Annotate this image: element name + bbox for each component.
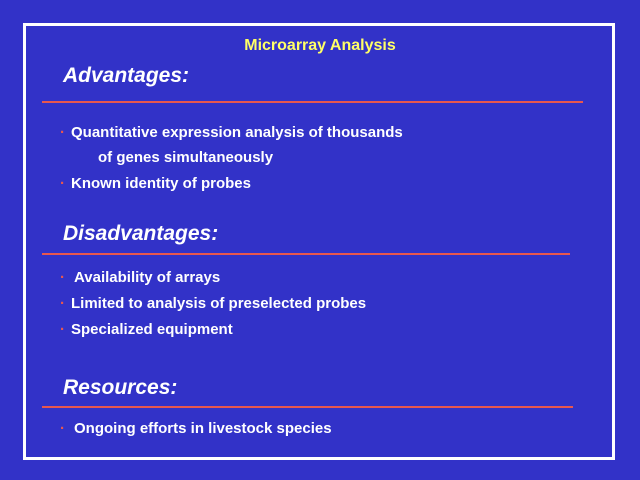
section-heading-resources: Resources: (63, 376, 177, 400)
list-item: ·Ongoing efforts in livestock species (60, 419, 332, 439)
list-item: ·Limited to analysis of preselected prob… (60, 294, 366, 314)
section-heading-advantages: Advantages: (63, 64, 189, 88)
list-item-label: Ongoing efforts in livestock species (74, 420, 332, 437)
section-divider-disadvantages (42, 253, 570, 255)
slide-content: Microarray Analysis Advantages: ·Quantit… (0, 0, 640, 480)
list-item-label: Specialized equipment (71, 321, 233, 338)
list-item-continuation: of genes simultaneously (98, 148, 273, 168)
presentation-slide: Microarray Analysis Advantages: ·Quantit… (0, 0, 640, 480)
bullet-marker-icon: · (60, 294, 71, 314)
section-divider-advantages (42, 101, 583, 103)
section-divider-resources (42, 406, 573, 408)
list-item: ·Availability of arrays (60, 268, 220, 288)
page-title: Microarray Analysis (0, 37, 640, 55)
bullet-marker-icon: · (60, 419, 74, 439)
bullet-marker-icon: · (60, 268, 74, 288)
section-heading-disadvantages: Disadvantages: (63, 222, 218, 246)
list-item: ·Quantitative expression analysis of tho… (60, 123, 403, 143)
list-item-label: Quantitative expression analysis of thou… (71, 124, 403, 141)
list-item: ·Known identity of probes (60, 174, 251, 194)
bullet-marker-icon: · (60, 320, 71, 340)
list-item-label: Known identity of probes (71, 175, 251, 192)
bullet-marker-icon: · (60, 174, 71, 194)
list-item: ·Specialized equipment (60, 320, 233, 340)
bullet-marker-icon: · (60, 123, 71, 143)
list-item-label: Availability of arrays (74, 269, 220, 286)
list-item-label: Limited to analysis of preselected probe… (71, 295, 366, 312)
